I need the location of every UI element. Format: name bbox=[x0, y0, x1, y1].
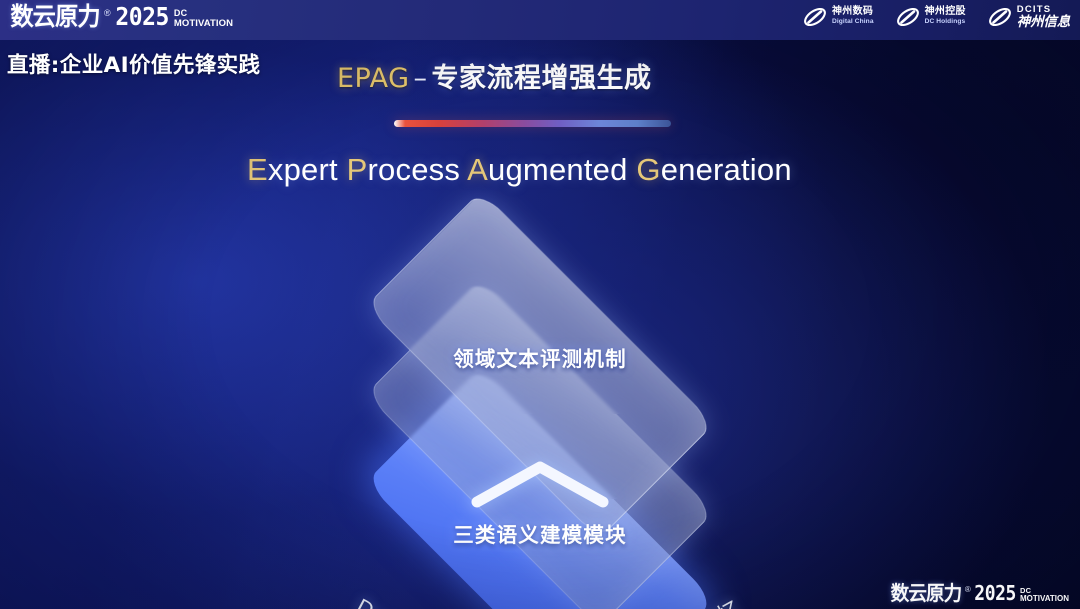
partner-logo-group: 神州数码 Digital China 神州控股 DC Holdings bbox=[802, 4, 1070, 29]
stack-layer-top-plate bbox=[366, 191, 715, 540]
watermark-motivation-label: MOTIVATION bbox=[1020, 595, 1069, 603]
live-subtitle: 直播:企业AI价值先锋实践 bbox=[7, 48, 260, 79]
partner-logo-text: DCITS 神州信息 bbox=[1017, 4, 1070, 29]
partner-logo-digital-china: 神州数码 Digital China bbox=[802, 5, 874, 29]
title-expansion: Expert Process Augmented Generation bbox=[247, 152, 792, 188]
brand-logo: 数云原力 ® 2025 DC MOTIVATION bbox=[7, 4, 233, 29]
partner-name-en: DC Holdings bbox=[925, 19, 966, 26]
partner-name-en: Digital China bbox=[832, 19, 874, 26]
title-dash: – bbox=[414, 63, 428, 94]
brand-year: 2025 bbox=[115, 4, 169, 29]
brand-motivation-label: MOTIVATION bbox=[174, 19, 233, 29]
expansion-rest-expert: xpert bbox=[268, 152, 338, 187]
partner-name-cn: 神州数码 bbox=[832, 7, 874, 18]
watermark-registered-mark: ® bbox=[965, 585, 971, 594]
partner-name-cn: 神州控股 bbox=[925, 7, 966, 18]
swirl-logo-icon bbox=[802, 5, 828, 29]
partner-logo-dc-holdings: 神州控股 DC Holdings bbox=[895, 5, 966, 29]
expansion-rest-generation: eneration bbox=[661, 152, 792, 187]
gradient-divider bbox=[394, 120, 671, 127]
expansion-rest-process: rocess bbox=[368, 152, 461, 187]
expansion-cap-e: E bbox=[247, 152, 268, 187]
watermark-name-cn: 数云原力 bbox=[891, 583, 962, 603]
partner-logo-text: 神州控股 DC Holdings bbox=[925, 7, 966, 25]
partner-logo-text: 神州数码 Digital China bbox=[832, 7, 874, 25]
watermark-dc-motivation: DC MOTIVATION bbox=[1020, 587, 1069, 604]
page-title: EPAG–专家流程增强生成 bbox=[337, 56, 652, 95]
title-chinese: 专家流程增强生成 bbox=[432, 63, 652, 94]
title-acronym: EPAG bbox=[337, 63, 410, 94]
watermark-year: 2025 bbox=[974, 583, 1016, 603]
brand-dc-motivation: DC MOTIVATION bbox=[174, 9, 233, 29]
brand-name-cn: 数云原力 bbox=[10, 4, 99, 29]
partner-name-cn: 神州信息 bbox=[1017, 15, 1070, 29]
expansion-cap-p: P bbox=[347, 152, 368, 187]
expansion-cap-g: G bbox=[636, 152, 660, 187]
expansion-cap-a: A bbox=[467, 152, 488, 187]
watermark-logo: 数云原力 ® 2025 DC MOTIVATION bbox=[888, 583, 1069, 603]
brand-registered-mark: ® bbox=[104, 8, 111, 18]
slide-stage: 数云原力 ® 2025 DC MOTIVATION 直播:企业AI价值先锋实践 … bbox=[0, 0, 1080, 609]
layer-stack-diagram: 领域文本评测机制 Dynamic MOE 长文本记忆 三类语义建模模块 bbox=[0, 196, 1080, 596]
brand-dc-label: DC bbox=[174, 9, 233, 18]
swirl-logo-icon bbox=[987, 5, 1013, 29]
watermark-dc-label: DC bbox=[1020, 587, 1069, 595]
stack-layer-top bbox=[375, 200, 705, 530]
expansion-rest-augmented: ugmented bbox=[488, 152, 627, 187]
swirl-logo-icon bbox=[895, 5, 921, 29]
partner-logo-dcits: DCITS 神州信息 bbox=[987, 4, 1070, 29]
